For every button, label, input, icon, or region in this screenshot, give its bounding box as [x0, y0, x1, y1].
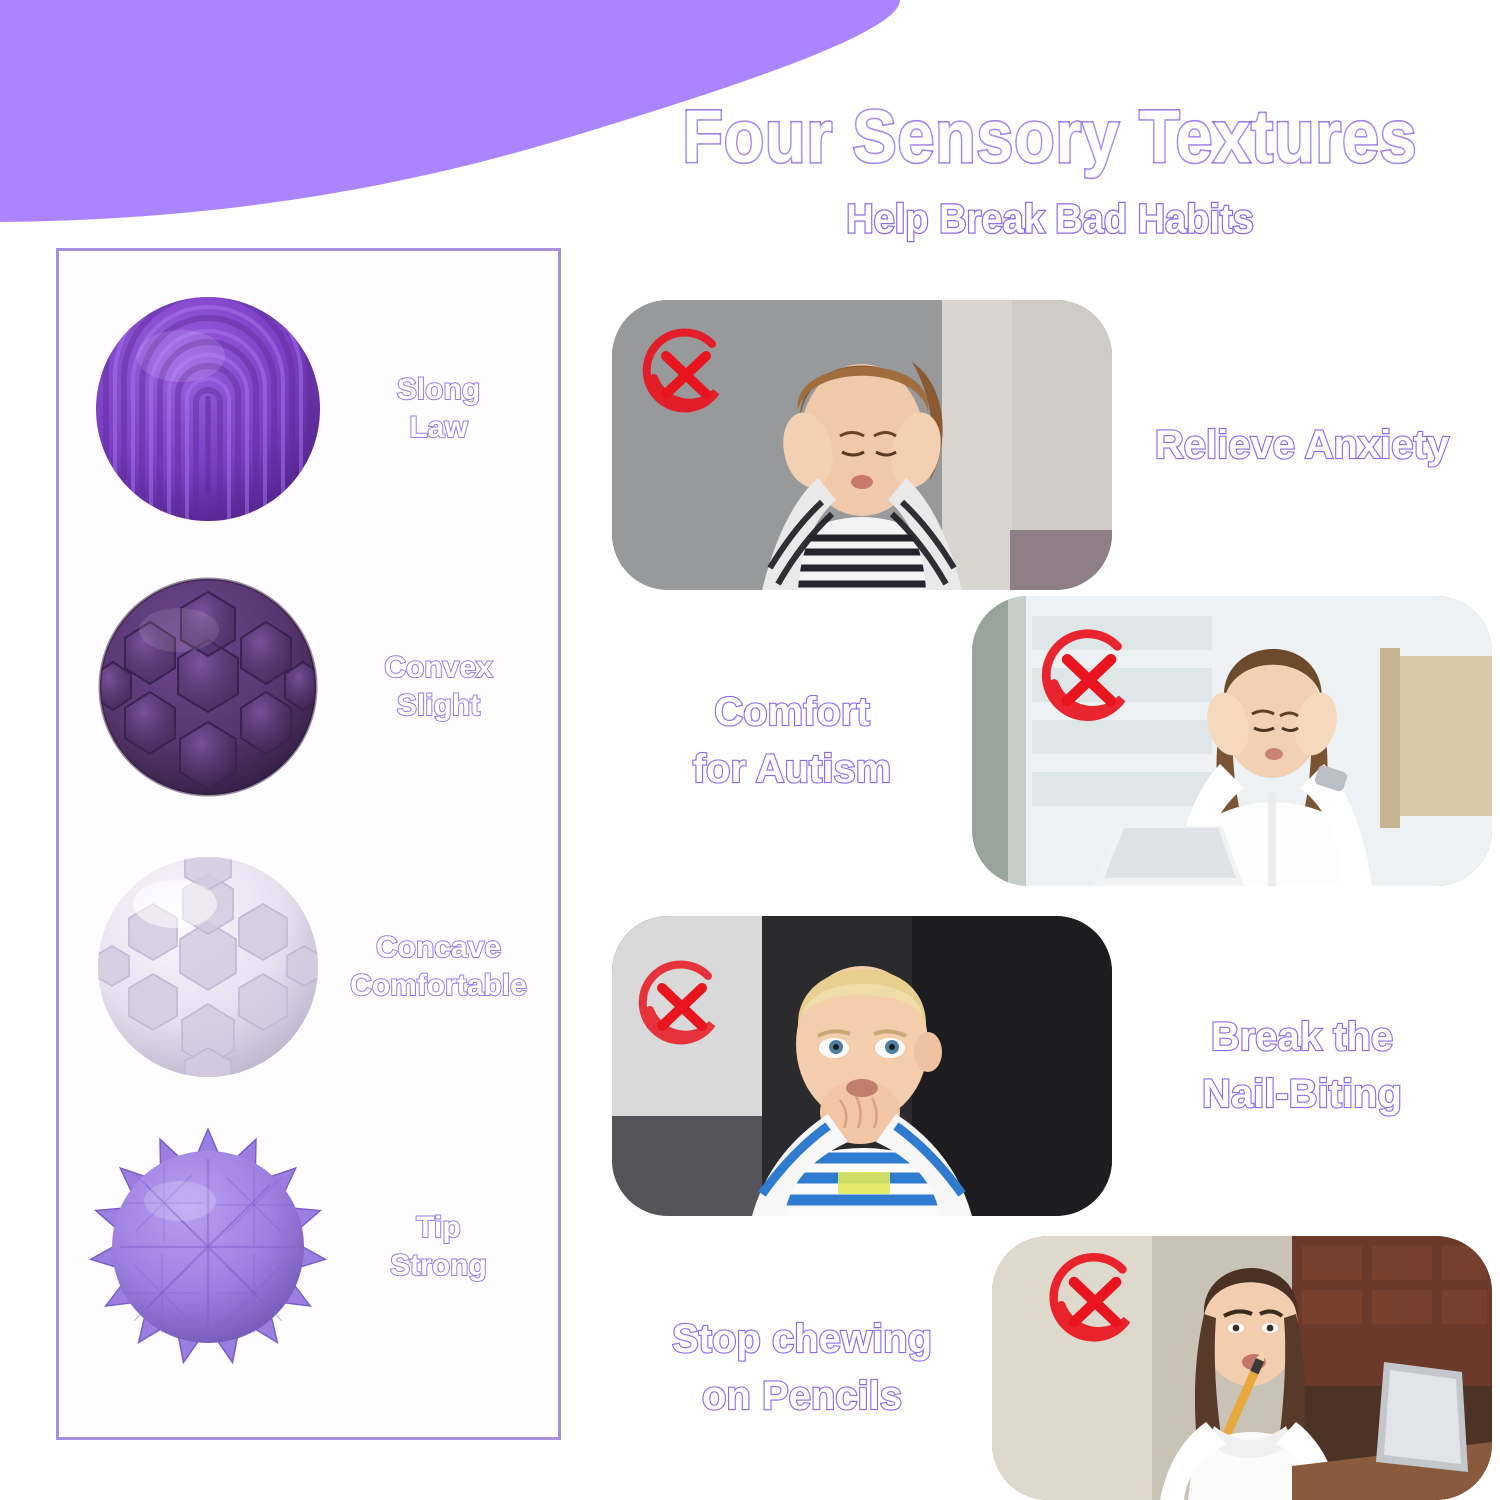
- benefit-card-relieve-anxiety[interactable]: Relieve Anxiety: [612, 300, 1492, 590]
- benefit-label: Stop chewing on Pencils: [612, 1311, 992, 1425]
- benefit-label-line1: Break the: [1122, 1009, 1482, 1066]
- texture-label-line2: Slight: [333, 687, 544, 725]
- woman-chewing-pencil-photo: [992, 1236, 1492, 1500]
- texture-label: Tip Strong: [333, 1209, 558, 1286]
- benefit-label: Break the Nail-Biting: [1112, 1009, 1492, 1123]
- texture-item-concave-comfortable[interactable]: Concave Comfortable: [59, 827, 558, 1107]
- benefit-label: Relieve Anxiety: [1112, 417, 1492, 474]
- texture-item-tip-strong[interactable]: Tip Strong: [59, 1107, 558, 1387]
- benefit-label-line2: for Autism: [622, 741, 962, 798]
- red-cross-stamp-icon: [1028, 618, 1148, 738]
- texture-label-line1: Concave: [333, 929, 544, 967]
- benefit-label-line1: Comfort: [622, 684, 962, 741]
- texture-label-line2: Comfortable: [333, 967, 544, 1005]
- benefit-card-stop-chewing-pencils[interactable]: Stop chewing on Pencils: [612, 1236, 1492, 1500]
- benefit-label-line1: Relieve Anxiety: [1122, 417, 1482, 474]
- texture-label-line2: Law: [333, 409, 544, 447]
- woman-headache-laptop-photo: [972, 596, 1492, 886]
- benefit-label: Comfort for Autism: [612, 684, 972, 798]
- texture-label-line1: Tip: [333, 1209, 544, 1247]
- texture-label-line1: Slong: [333, 371, 544, 409]
- red-cross-stamp-icon: [626, 950, 736, 1060]
- benefit-label-line2: on Pencils: [622, 1368, 982, 1425]
- red-cross-stamp-icon: [630, 318, 740, 428]
- texture-label-line1: Convex: [333, 649, 544, 687]
- benefit-card-comfort-for-autism[interactable]: Comfort for Autism: [612, 596, 1492, 886]
- benefit-card-break-nail-biting[interactable]: Break the Nail-Biting: [612, 916, 1492, 1216]
- texture-item-slong-law[interactable]: Slong Law: [59, 269, 558, 549]
- textures-panel: Slong Law: [56, 248, 561, 1440]
- page-subtitle: Help Break Bad Habits: [600, 197, 1500, 243]
- girl-holding-head-photo: [612, 300, 1112, 590]
- boy-biting-nails-photo: [612, 916, 1112, 1216]
- convex-ball-icon: [83, 562, 333, 812]
- spiky-ball-icon: [83, 1122, 333, 1372]
- page-title: Four Sensory Textures: [600, 98, 1500, 176]
- texture-label: Slong Law: [333, 371, 558, 448]
- ridged-ball-icon: [83, 284, 333, 534]
- benefit-label-line2: Nail-Biting: [1122, 1066, 1482, 1123]
- texture-label: Concave Comfortable: [333, 929, 558, 1006]
- benefit-label-line1: Stop chewing: [622, 1311, 982, 1368]
- header-block: Four Sensory Textures Help Break Bad Hab…: [600, 98, 1500, 240]
- concave-ball-icon: [83, 842, 333, 1092]
- texture-item-convex-slight[interactable]: Convex Slight: [59, 547, 558, 827]
- red-cross-stamp-icon: [1036, 1242, 1152, 1358]
- texture-label-line2: Strong: [333, 1247, 544, 1285]
- texture-label: Convex Slight: [333, 649, 558, 726]
